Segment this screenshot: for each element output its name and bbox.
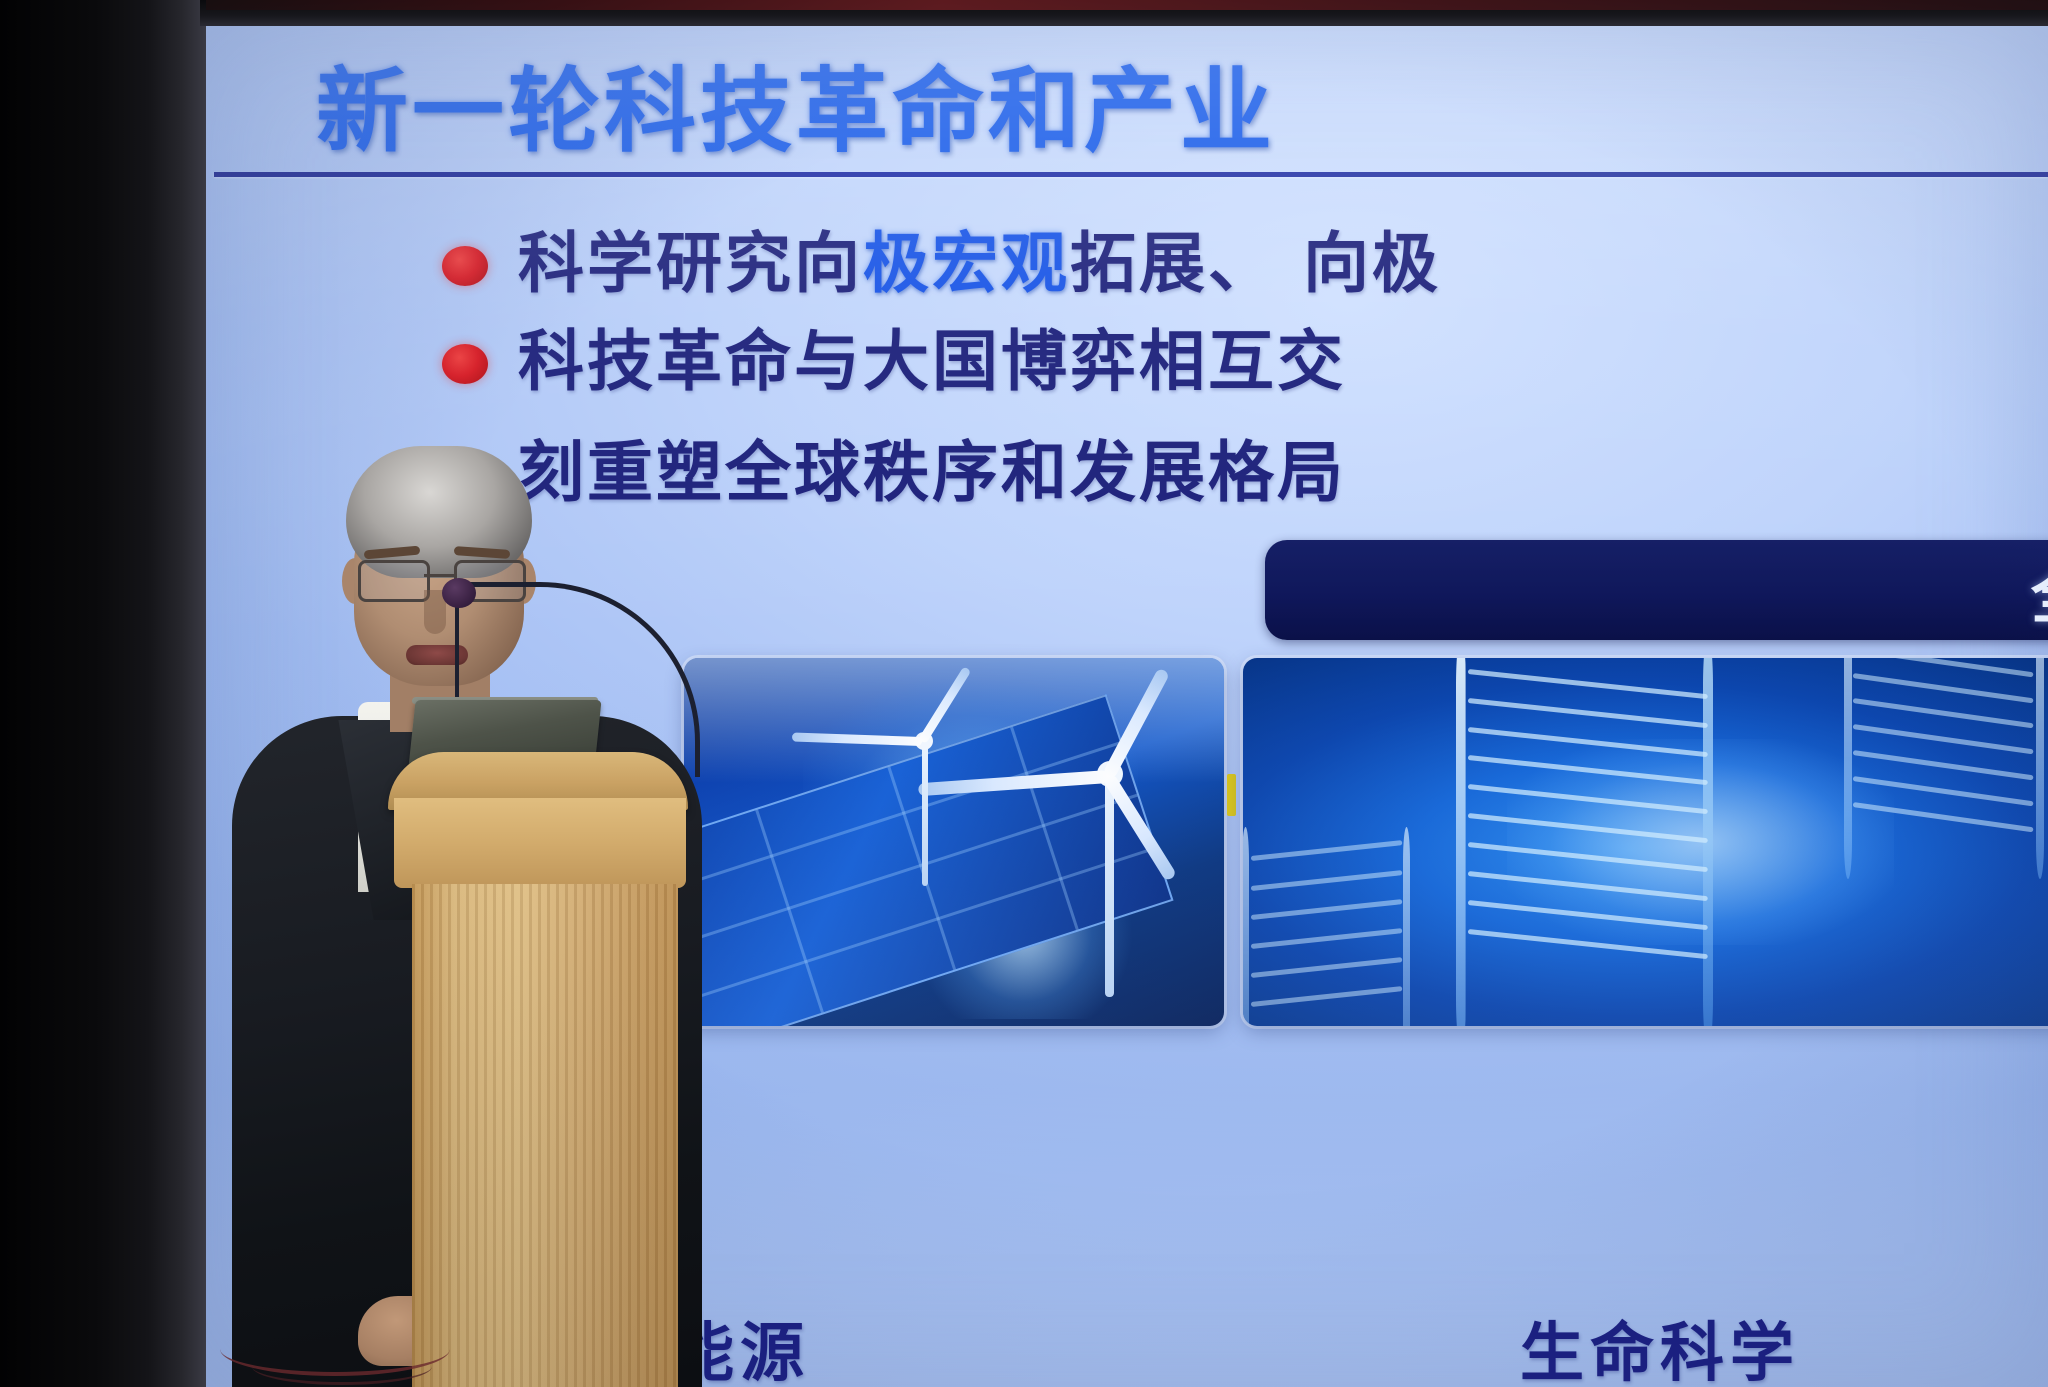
- bullet-1-text: 科学研究向极宏观拓展、 向极: [518, 222, 1441, 306]
- dna-helix-secondary: [1824, 658, 2048, 879]
- dna-helix-main: [1437, 658, 1754, 1026]
- bullet-2-continuation-line: 刻重塑全球秩序和发展格局: [518, 419, 2048, 515]
- bullet-item-1: 科学研究向极宏观拓展、 向极: [442, 222, 2048, 306]
- life-science-image-panel: [1243, 658, 2048, 1026]
- dna-helix-lower-left: [1243, 827, 1437, 1026]
- bullet-1-segment-2-highlight: 极宏观: [863, 225, 1070, 302]
- clean-energy-image-panel: [684, 658, 1224, 1026]
- turbine-blade: [792, 733, 922, 747]
- red-dot-icon: [442, 246, 488, 286]
- slide-title: 新一轮科技革命和产业: [316, 64, 2048, 161]
- life-science-caption: 生命科学: [1520, 1302, 1800, 1387]
- turbine-mast: [922, 739, 928, 886]
- glasses-bridge: [424, 574, 454, 577]
- red-dot-icon: [442, 344, 488, 384]
- stage-left-wall: [0, 0, 206, 1387]
- title-divider-rule: [214, 172, 2048, 177]
- podium-shading: [412, 884, 678, 1387]
- presentation-scene: 新一轮科技革命和产业 科学研究向极宏观拓展、 向极 科技革命与大国博弈相互交 刻…: [0, 0, 2048, 1387]
- stage-top-red-banner: [206, 0, 2048, 10]
- bullet-1-segment-3: 拓展、 向极: [1070, 225, 1441, 302]
- microphone-head-icon: [442, 578, 476, 608]
- turbine-blade: [918, 667, 971, 745]
- bullet-item-2: 科技革命与大国博弈相互交: [442, 320, 2048, 404]
- bullet-1-segment-1: 科学研究向: [518, 225, 863, 302]
- floor-cable-secondary: [252, 1348, 432, 1385]
- wind-turbine-small: [684, 658, 1224, 1026]
- bullet-2-text: 科技革命与大国博弈相互交: [518, 320, 1346, 404]
- glasses-lens-left: [358, 560, 430, 602]
- status-badge: 全: [1265, 540, 2048, 640]
- status-badge-label: 全: [2031, 545, 2048, 635]
- podium-front-face: [394, 798, 686, 888]
- panel-divider-tick: [1227, 774, 1236, 816]
